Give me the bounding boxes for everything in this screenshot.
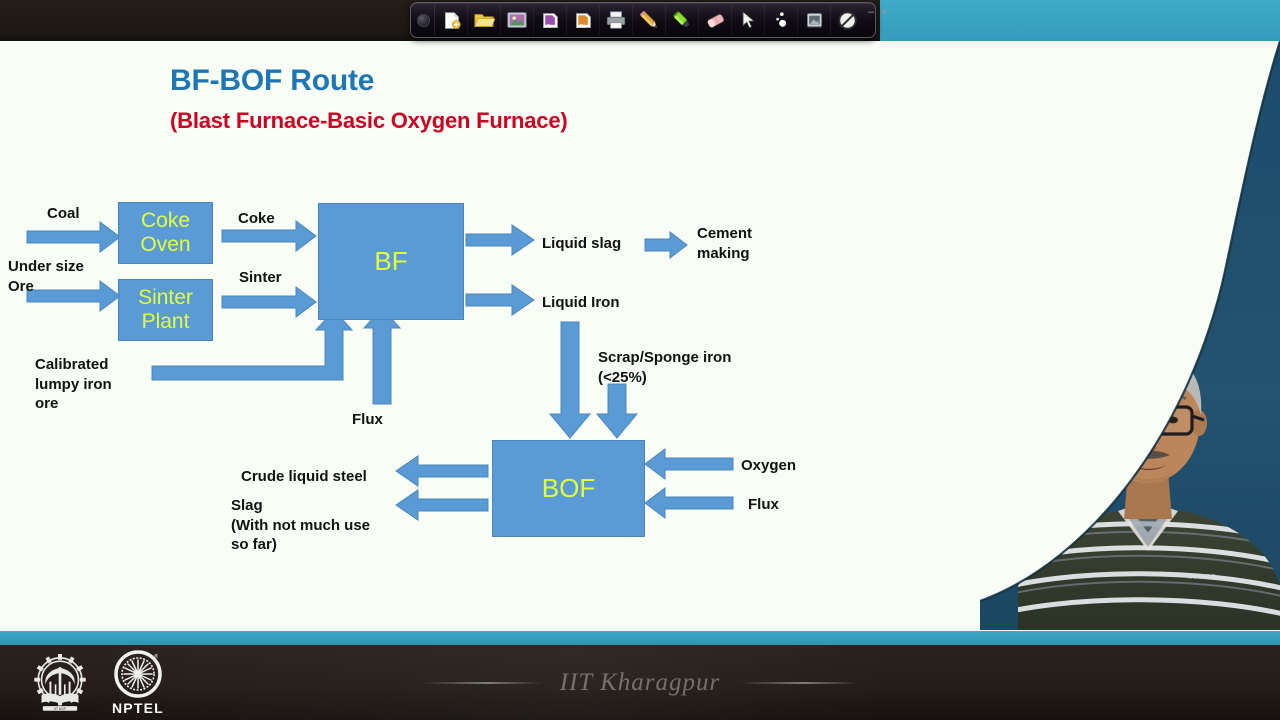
bottom-black-band	[0, 645, 1280, 720]
label-sinter: Sinter	[239, 268, 282, 288]
nptel-logo-group: ® NPTEL	[112, 649, 164, 716]
label-coke: Coke	[238, 209, 275, 229]
box-bf[interactable]: BF	[318, 203, 464, 320]
image-icon[interactable]	[501, 5, 534, 35]
box-coke-oven-line1: Coke	[141, 209, 190, 233]
label-flux-bof: Flux	[748, 495, 779, 515]
arrow-liquid-slag	[466, 225, 534, 255]
label-scrap-sponge-iron: Scrap/Sponge iron (<25%)	[598, 348, 731, 387]
iit-kharagpur-logo: IIT KGP	[26, 650, 94, 716]
arrow-oxygen	[645, 449, 733, 479]
annotation-toolbar[interactable]: – ×	[410, 2, 876, 38]
nptel-logo: ®	[113, 649, 163, 699]
pencil-icon[interactable]	[633, 5, 666, 35]
toolbar-button-group	[435, 3, 864, 37]
label-under-size-ore: Under size Ore	[8, 257, 84, 296]
bottom-teal-band	[0, 631, 1280, 645]
minimize-button[interactable]: –	[868, 7, 874, 18]
arrow-slag	[396, 490, 488, 520]
page-purple-icon[interactable]	[534, 5, 567, 35]
eraser-icon[interactable]	[699, 5, 732, 35]
capture-icon[interactable]	[798, 5, 831, 35]
box-sinter-plant-line2: Plant	[142, 310, 190, 334]
label-crude-liquid-steel: Crude liquid steel	[241, 467, 367, 487]
label-slag: Slag (With not much use so far)	[231, 496, 370, 555]
box-coke-oven-line2: Oven	[140, 233, 190, 257]
no-entry-icon[interactable]	[831, 5, 864, 35]
lecture-screen: BF-BOF Route (Blast Furnace-Basic Oxygen…	[0, 0, 1280, 720]
arrow-flux-bf	[364, 308, 400, 404]
footer-logos: IIT KGP ® NPTEL	[26, 649, 164, 716]
arrow-cement	[645, 232, 687, 258]
nptel-wordmark: NPTEL	[112, 700, 164, 716]
arrow-coal	[27, 222, 120, 252]
presenter-video-overlay: IIT KGP	[980, 41, 1280, 630]
page-orange-icon[interactable]	[567, 5, 600, 35]
new-page-icon[interactable]	[435, 5, 468, 35]
box-sinter-plant-line1: Sinter	[138, 286, 193, 310]
svg-text:IIT KGP: IIT KGP	[1188, 574, 1216, 581]
arrow-scrap-down	[597, 384, 637, 438]
presenter-glasses	[1093, 407, 1204, 434]
toolbar-drag-handle[interactable]	[413, 5, 435, 35]
highlighter-icon[interactable]	[666, 5, 699, 35]
box-bf-label: BF	[374, 247, 407, 276]
box-bof[interactable]: BOF	[492, 440, 645, 537]
toolbar-orb-icon	[417, 14, 430, 27]
printer-icon[interactable]	[600, 5, 633, 35]
arrow-liquid-iron-out	[466, 285, 534, 315]
label-flux-bf: Flux	[352, 410, 383, 430]
svg-text:IIT KGP: IIT KGP	[54, 707, 66, 711]
dots-icon[interactable]	[765, 5, 798, 35]
arrow-liquid-iron-down	[550, 322, 590, 438]
label-calibrated-lumpy-iron-ore: Calibrated lumpy iron ore	[35, 355, 112, 414]
label-liquid-iron: Liquid Iron	[542, 293, 619, 313]
toolbar-window-controls: – ×	[864, 3, 888, 37]
cursor-arrow-icon[interactable]	[732, 5, 765, 35]
open-folder-icon[interactable]	[468, 5, 501, 35]
close-button[interactable]: ×	[881, 7, 887, 18]
label-cement-making: Cement making	[697, 224, 752, 263]
svg-text:®: ®	[154, 653, 158, 660]
box-coke-oven[interactable]: Coke Oven	[118, 202, 213, 264]
arrow-flux-bof	[645, 488, 733, 518]
arrow-crude-steel	[396, 456, 488, 486]
arrow-sinter	[222, 287, 316, 317]
box-bof-label: BOF	[542, 474, 595, 503]
label-coal: Coal	[47, 204, 80, 224]
box-sinter-plant[interactable]: Sinter Plant	[118, 279, 213, 341]
label-oxygen: Oxygen	[741, 456, 796, 476]
label-liquid-slag: Liquid slag	[542, 234, 621, 254]
top-teal-band	[880, 0, 1280, 41]
